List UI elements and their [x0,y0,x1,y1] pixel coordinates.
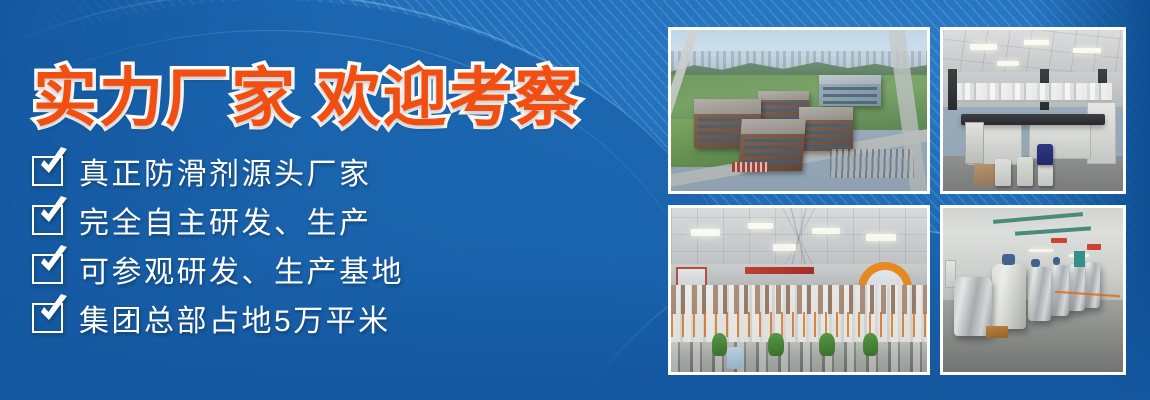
photo-production-line [940,205,1126,375]
list-item: 真正防滑剂源头厂家 [32,146,404,195]
list-item-label: 集团总部占地5万平米 [79,296,391,340]
check-mark-icon [36,146,70,180]
banner-headline: 实力厂家 欢迎考察 [33,47,581,139]
feature-list: 真正防滑剂源头厂家 完全自主研发、生产 可参观研发、生产基地 [32,146,404,342]
photo-staff-group [668,205,930,375]
checkbox-checked-icon [32,156,63,186]
list-item: 集团总部占地5万平米 [32,293,404,342]
list-item-label: 真正防滑剂源头厂家 [79,149,372,193]
text-column: 实力厂家 欢迎考察 真正防滑剂源头厂家 完全自主研发、生产 [0,0,640,400]
list-item-label: 可参观研发、生产基地 [79,247,404,291]
photo-laboratory [940,27,1126,194]
promo-banner: 实力厂家 欢迎考察 真正防滑剂源头厂家 完全自主研发、生产 [0,0,1150,400]
list-item: 可参观研发、生产基地 [32,244,404,293]
checkbox-checked-icon [32,205,63,235]
checkbox-checked-icon [32,303,63,333]
photo-company-campus-aerial [668,27,930,194]
photo-grid [668,27,1126,375]
list-item-label: 完全自主研发、生产 [79,198,372,242]
check-mark-icon [36,244,70,278]
checkbox-checked-icon [32,254,63,284]
list-item: 完全自主研发、生产 [32,195,404,244]
check-mark-icon [36,293,70,327]
check-mark-icon [36,195,70,229]
